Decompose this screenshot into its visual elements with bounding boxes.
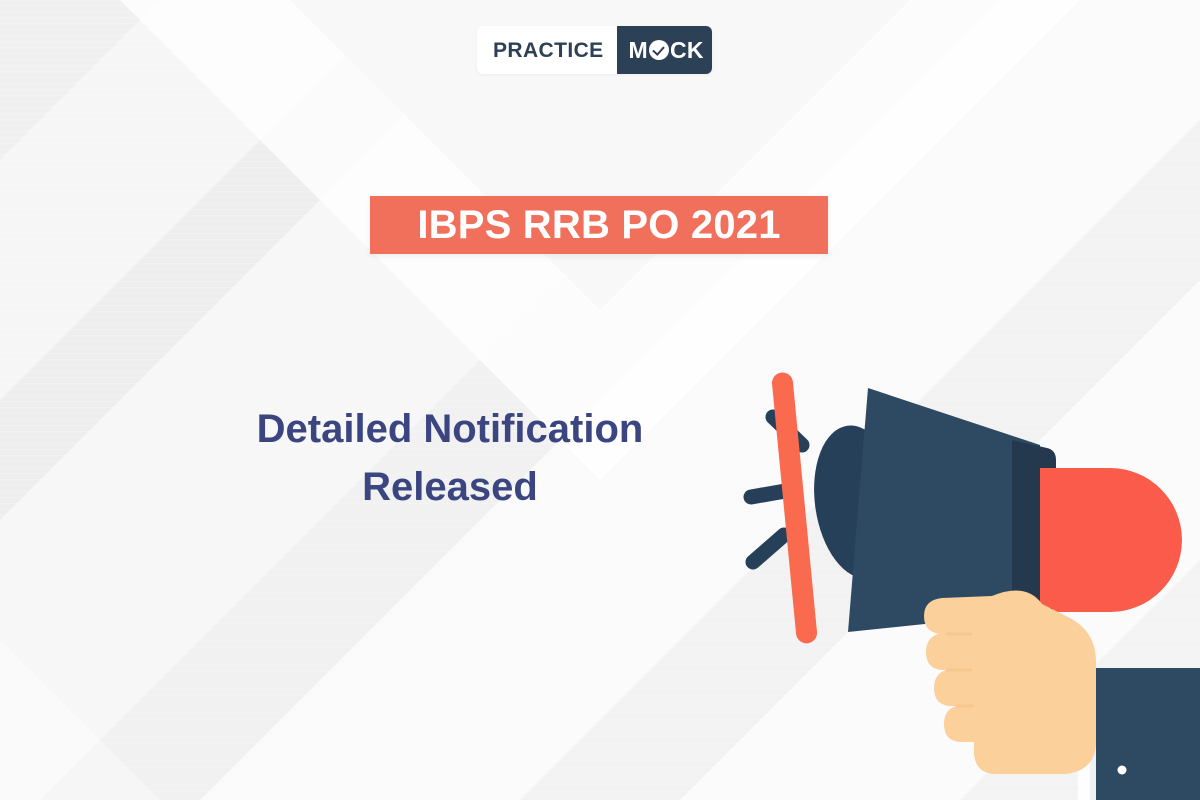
logo-mock-text: M CK <box>629 39 704 62</box>
megaphone-back-cap <box>1040 468 1182 612</box>
logo-practice-text: PRACTICE <box>477 40 617 61</box>
logo-mock-m: M <box>629 39 648 62</box>
megaphone-rim <box>771 372 818 645</box>
megaphone-illustration <box>740 350 1200 800</box>
check-circle-icon <box>649 40 669 60</box>
sound-line-bottom <box>753 535 784 562</box>
logo-mock-block: M CK <box>617 26 712 74</box>
practicemock-logo[interactable]: PRACTICE M CK <box>477 26 712 74</box>
subtitle-block: Detailed Notification Released <box>160 400 740 516</box>
headline-banner: IBPS RRB PO 2021 <box>370 196 828 254</box>
subtitle-line-2: Released <box>160 458 740 516</box>
subtitle-line-1: Detailed Notification <box>160 400 740 458</box>
headline-text: IBPS RRB PO 2021 <box>417 205 780 245</box>
logo-mock-ck: CK <box>670 39 704 62</box>
jacket-sleeve <box>1090 668 1200 800</box>
sleeve-button <box>1118 766 1127 775</box>
promo-banner: PRACTICE M CK IBPS RRB PO 2021 Detailed … <box>0 0 1200 800</box>
